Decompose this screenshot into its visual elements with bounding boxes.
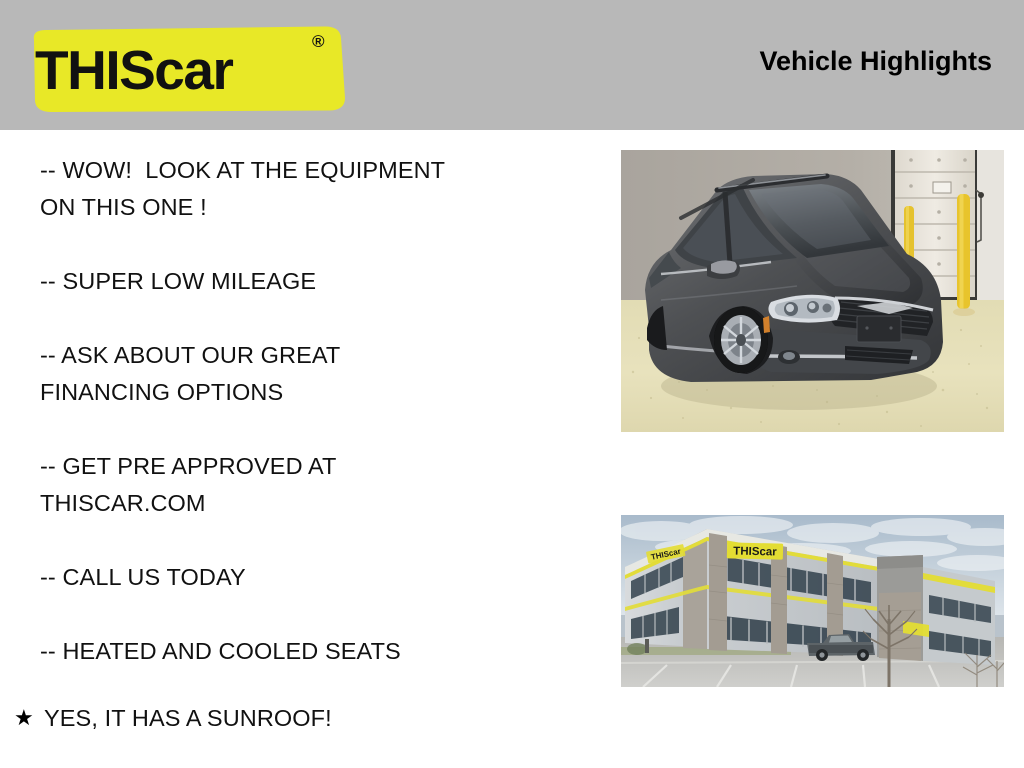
- thiscar-logo[interactable]: THIScar ®: [22, 26, 345, 112]
- vehicle-photo-image: [621, 150, 1004, 432]
- highlight-item: -- HEATED AND COOLED SEATS: [40, 633, 600, 670]
- dealership-sign-text: THIScar: [733, 545, 777, 558]
- logo-wordmark: THIScar: [35, 42, 335, 98]
- star-icon: ★: [14, 703, 44, 733]
- dealership-photo[interactable]: THIScar THIScar: [621, 515, 1004, 687]
- highlight-item: -- CALL US TODAY: [40, 559, 600, 596]
- highlight-item: -- GET PRE APPROVED AT THISCAR.COM: [40, 448, 600, 522]
- page-title: Vehicle Highlights: [759, 46, 992, 77]
- highlight-item: -- SUPER LOW MILEAGE: [40, 263, 600, 300]
- sunroof-label: YES, IT HAS A SUNROOF!: [44, 703, 332, 733]
- dealership-photo-image: THIScar THIScar: [621, 515, 1004, 687]
- sunroof-highlight: ★ YES, IT HAS A SUNROOF!: [14, 703, 332, 733]
- vehicle-highlights-list: -- WOW! LOOK AT THE EQUIPMENT ON THIS ON…: [40, 152, 600, 707]
- highlight-item: -- WOW! LOOK AT THE EQUIPMENT ON THIS ON…: [40, 152, 600, 226]
- vehicle-photo[interactable]: [621, 150, 1004, 432]
- logo-word-this: THIS: [35, 39, 154, 101]
- logo-word-car: car: [154, 39, 232, 101]
- header-bar: THIScar ® Vehicle Highlights: [0, 0, 1024, 130]
- registered-trademark-icon: ®: [312, 32, 325, 52]
- highlight-item: -- ASK ABOUT OUR GREAT FINANCING OPTIONS: [40, 337, 600, 411]
